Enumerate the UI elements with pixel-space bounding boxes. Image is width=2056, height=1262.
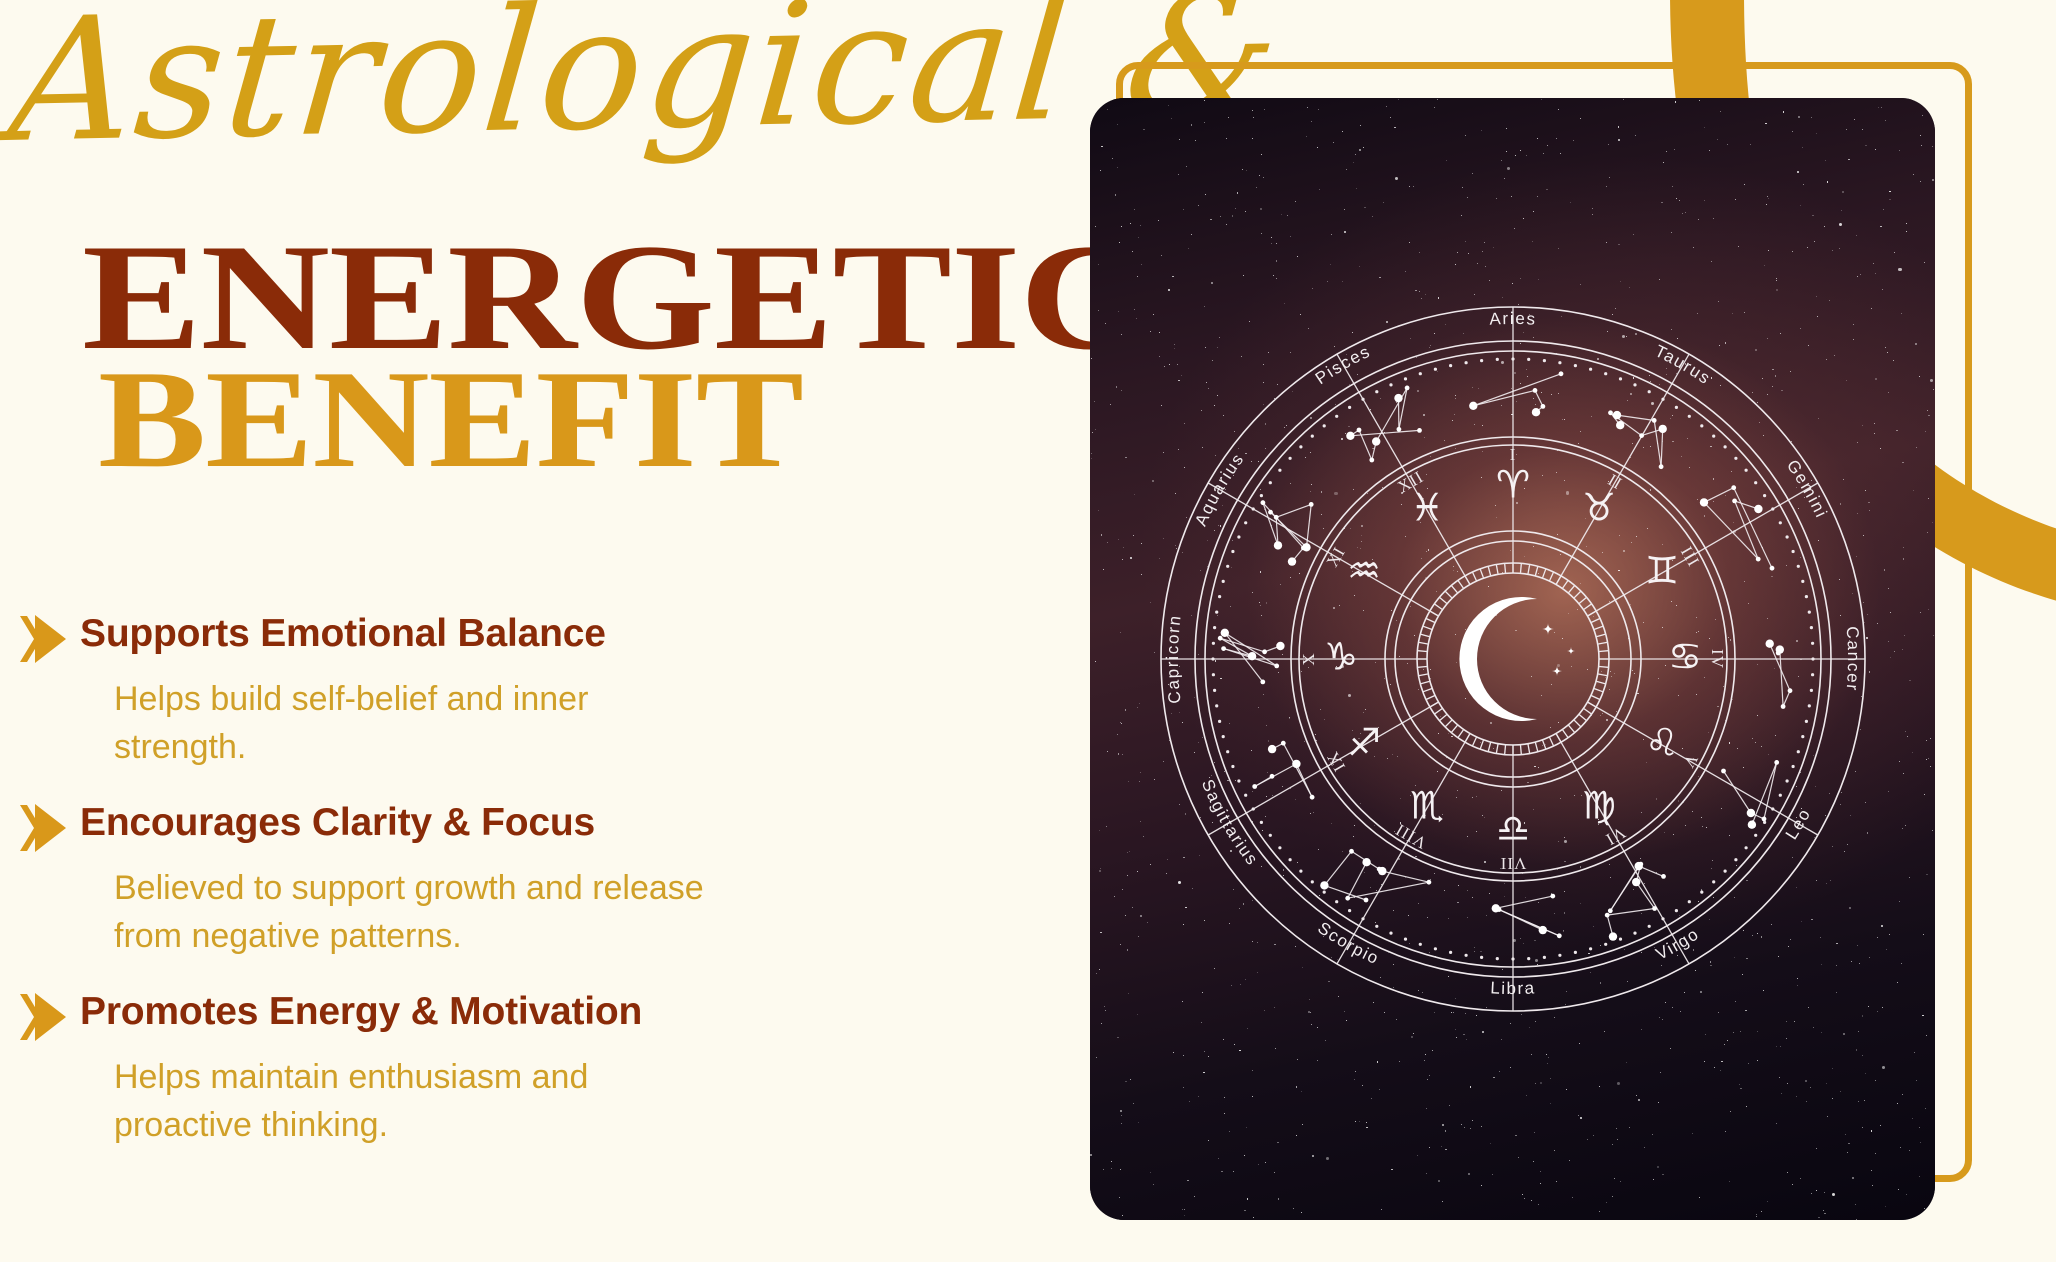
zodiac-name-pisces: Pisces	[1311, 342, 1373, 389]
crescent-moon-icon	[1459, 597, 1575, 721]
list-item: Encourages Clarity & Focus Believed to s…	[10, 797, 910, 960]
page-title-line2: BENEFIT	[98, 360, 803, 480]
zodiac-wheel-graphic: AriesTaurusGeminiCancerLeoVirgoLibraScor…	[1153, 299, 1873, 1019]
house-numeral-III: III	[1676, 543, 1702, 570]
zodiac-glyph-capricorn: ♑	[1323, 635, 1357, 679]
zodiac-glyph-cancer: ♋	[1667, 635, 1701, 679]
page-title-script: Astrological &	[4, 0, 939, 163]
zodiac-glyph-aquarius: ♒	[1346, 549, 1380, 593]
zodiac-glyph-virgo: ♍	[1581, 784, 1615, 828]
text-column: Astrological & ENERGETIC BENEFIT Support…	[0, 0, 1060, 1262]
benefit-list: Supports Emotional Balance Helps build s…	[10, 608, 910, 1176]
benefit-description: Believed to support growth and release f…	[114, 865, 714, 960]
benefit-description: Helps build self-belief and inner streng…	[114, 676, 714, 771]
house-numeral-I: I	[1509, 445, 1516, 464]
house-numeral-IV: IV	[1708, 649, 1727, 669]
double-chevron-right-icon	[18, 990, 80, 1044]
list-item: Supports Emotional Balance Helps build s…	[10, 608, 910, 771]
house-numeral-VII: VII	[1499, 854, 1526, 873]
zodiac-glyph-aries: ♈	[1495, 463, 1529, 507]
zodiac-name-cancer: Cancer	[1842, 626, 1863, 693]
zodiac-glyph-pisces: ♓	[1409, 486, 1443, 530]
house-numeral-V: V	[1678, 751, 1701, 772]
benefit-heading: Supports Emotional Balance	[80, 608, 606, 655]
zodiac-name-leo: Leo	[1781, 805, 1814, 843]
list-item: Promotes Energy & Motivation Helps maint…	[10, 986, 910, 1149]
double-chevron-right-icon	[18, 612, 80, 666]
zodiac-glyph-taurus: ♉	[1581, 486, 1615, 530]
benefit-heading: Promotes Energy & Motivation	[80, 986, 642, 1033]
poster-canvas: Astrological & ENERGETIC BENEFIT Support…	[0, 0, 2056, 1262]
zodiac-glyph-gemini: ♊	[1644, 549, 1678, 593]
zodiac-name-aries: Aries	[1488, 309, 1536, 329]
zodiac-glyph-libra: ♎	[1495, 807, 1529, 851]
zodiac-glyph-scorpio: ♏	[1409, 784, 1443, 828]
house-numeral-XI: XI	[1322, 543, 1348, 570]
image-column: AriesTaurusGeminiCancerLeoVirgoLibraScor…	[1060, 0, 2056, 1262]
benefit-heading: Encourages Clarity & Focus	[80, 797, 595, 844]
zodiac-glyph-leo: ♌	[1644, 721, 1678, 765]
house-numeral-IX: IX	[1322, 748, 1348, 775]
zodiac-wheel-starfield-photo: AriesTaurusGeminiCancerLeoVirgoLibraScor…	[1090, 98, 1935, 1220]
zodiac-glyph-sagittarius: ♐	[1346, 721, 1380, 765]
house-numeral-X: X	[1298, 652, 1317, 665]
zodiac-name-libra: Libra	[1489, 978, 1535, 998]
zodiac-name-capricorn: Capricorn	[1162, 613, 1184, 704]
double-chevron-right-icon	[18, 801, 80, 855]
benefit-description: Helps maintain enthusiasm and proactive …	[114, 1054, 714, 1149]
